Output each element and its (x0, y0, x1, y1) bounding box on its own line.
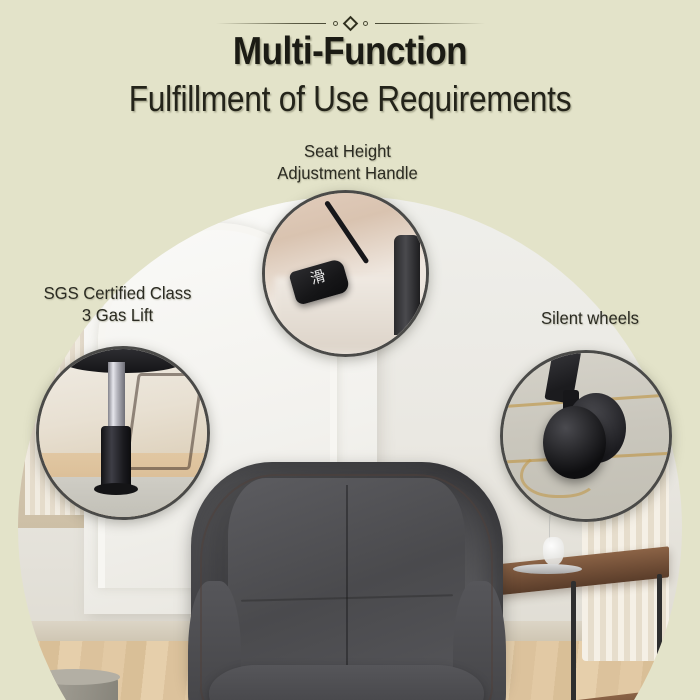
callout-sgs-certified-class-3-gas-lift (36, 346, 210, 520)
planter-pot (31, 674, 117, 700)
lamp-base (513, 564, 583, 574)
label-seat-height-adjustment-handle: Seat Height Adjustment Handle (250, 141, 445, 184)
chair-post (394, 235, 420, 335)
divider-dot-left (333, 21, 338, 26)
desk-accessories (503, 528, 603, 574)
gas-lift-shroud (101, 426, 131, 490)
callout-seat-height-adjustment-handle: 滑 (262, 190, 429, 357)
handle-closeup-photo: 滑 (265, 193, 426, 354)
label-silent-wheels: Silent wheels (505, 308, 676, 330)
divider-rule-left (216, 23, 326, 24)
gas-lift-closeup-photo (39, 349, 207, 517)
handle-glyph: 滑 (300, 266, 340, 299)
lamp-glass (543, 537, 565, 566)
wheel-closeup-photo (503, 353, 669, 519)
label-sgs-certified-class-3-gas-lift: SGS Certified Class 3 Gas Lift (15, 283, 219, 326)
desk-leg (657, 574, 662, 700)
office-chair (191, 462, 503, 700)
callout-silent-wheels (500, 350, 672, 522)
divider-rule-right (375, 23, 485, 24)
diamond-icon (342, 15, 358, 31)
page-title: Multi-Function (35, 30, 665, 74)
header: Multi-Function Fulfillment of Use Requir… (0, 0, 700, 130)
infographic-canvas: Multi-Function Fulfillment of Use Requir… (0, 0, 700, 700)
page-subtitle: Fulfillment of Use Requirements (42, 78, 658, 120)
desk-leg (571, 581, 576, 700)
gas-lift-cylinder-icon (108, 362, 125, 436)
divider-dot-right (363, 21, 368, 26)
caster-wheel-icon (543, 406, 606, 479)
chair-seat (209, 665, 484, 700)
